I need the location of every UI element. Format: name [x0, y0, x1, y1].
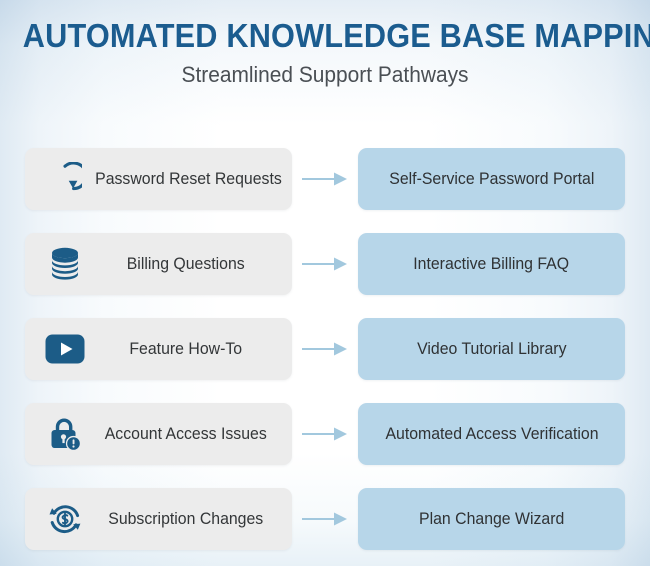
target-box[interactable]: Interactive Billing FAQ	[358, 233, 625, 295]
source-label: Feature How-To	[95, 340, 288, 359]
lock-alert-icon	[39, 410, 91, 458]
header: AUTOMATED KNOWLEDGE BASE MAPPING Streaml…	[0, 0, 650, 88]
source-box[interactable]: Billing Questions	[25, 233, 292, 295]
source-label: Account Access Issues	[95, 425, 288, 444]
database-stack-icon	[39, 240, 91, 288]
mapping-row: Feature How-To Video Tutorial Library	[0, 318, 650, 380]
target-label: Automated Access Verification	[377, 425, 605, 444]
mapping-rows: Password Reset Requests Self-Service Pas…	[0, 148, 650, 550]
arrow-right-icon	[301, 148, 349, 210]
source-box[interactable]: Feature How-To	[25, 318, 292, 380]
target-box[interactable]: Self-Service Password Portal	[358, 148, 625, 210]
source-box[interactable]: Account Access Issues	[25, 403, 292, 465]
target-label: Self-Service Password Portal	[381, 170, 601, 189]
target-box[interactable]: Automated Access Verification	[358, 403, 625, 465]
source-label: Subscription Changes	[95, 510, 288, 529]
target-box[interactable]: Video Tutorial Library	[358, 318, 625, 380]
mapping-row: Account Access Issues Automated Access V…	[0, 403, 650, 465]
mapping-row: Billing Questions Interactive Billing FA…	[0, 233, 650, 295]
target-label: Video Tutorial Library	[409, 340, 574, 359]
arrow-right-icon	[301, 403, 349, 465]
page-subtitle: Streamlined Support Pathways	[16, 62, 634, 88]
video-play-icon	[39, 325, 91, 373]
source-label: Password Reset Requests	[95, 170, 293, 189]
target-box[interactable]: Plan Change Wizard	[358, 488, 625, 550]
source-box[interactable]: Subscription Changes	[25, 488, 292, 550]
mapping-row: Password Reset Requests Self-Service Pas…	[0, 148, 650, 210]
arrow-right-icon	[301, 233, 349, 295]
target-label: Plan Change Wizard	[411, 510, 572, 529]
refresh-circle-icon	[39, 155, 91, 203]
arrow-right-icon	[301, 488, 349, 550]
mapping-row: Subscription Changes Plan Change Wizard	[0, 488, 650, 550]
page-title: AUTOMATED KNOWLEDGE BASE MAPPING	[23, 16, 628, 56]
source-box[interactable]: Password Reset Requests	[25, 148, 292, 210]
arrow-right-icon	[301, 318, 349, 380]
target-label: Interactive Billing FAQ	[406, 255, 577, 274]
recurring-payment-icon	[39, 495, 91, 543]
source-label: Billing Questions	[95, 255, 288, 274]
infographic-canvas: AUTOMATED KNOWLEDGE BASE MAPPING Streaml…	[0, 0, 650, 566]
